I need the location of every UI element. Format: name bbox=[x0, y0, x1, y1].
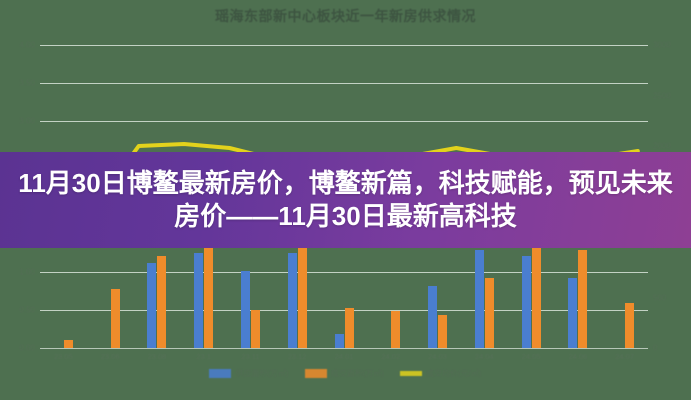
y-axis-right-tick-label: 0 bbox=[653, 344, 657, 353]
x-axis-tick-label: 23.1 bbox=[196, 352, 211, 361]
x-axis-tick-label: 24.07 bbox=[615, 352, 634, 361]
y-axis-left-tick-label: 4.00 bbox=[19, 41, 35, 50]
x-axis-tick-label: 23.05 bbox=[54, 352, 73, 361]
x-axis-tick-label: 24.05 bbox=[522, 352, 541, 361]
legend-item-price: 成交均价(元/㎡) bbox=[400, 368, 482, 379]
chart-legend: 供应面积(万㎡) 成交面积(万㎡) 成交均价(元/㎡) bbox=[0, 368, 691, 379]
x-axis-tick-label: 23.08 bbox=[148, 352, 167, 361]
x-axis-tick-label: 24.03 bbox=[428, 352, 447, 361]
y-axis-left-tick-label: 3.50 bbox=[19, 78, 35, 87]
y-axis-left-tick-label: 1.00 bbox=[19, 268, 35, 277]
legend-label-deal: 成交面积(万㎡) bbox=[331, 368, 384, 379]
x-axis-tick-label: 23.12 bbox=[288, 352, 307, 361]
x-axis-tick-label: 24.01 bbox=[335, 352, 354, 361]
gridline bbox=[40, 348, 648, 349]
y-axis-left-tick-label: 0.00 bbox=[19, 344, 35, 353]
legend-swatch-supply-icon bbox=[209, 369, 231, 378]
y-axis-right-tick-label: 2000 bbox=[653, 142, 671, 151]
legend-swatch-deal-icon bbox=[305, 369, 327, 378]
y-axis-right-tick-label: 3000 bbox=[653, 41, 671, 50]
article-headline-text: 11月30日博鳌最新房价，博鳌新篇，科技赋能，预见未来房价——11月30日最新高… bbox=[6, 167, 685, 234]
x-axis-tick-label: 24.02 bbox=[381, 352, 400, 361]
legend-label-supply: 供应面积(万㎡) bbox=[235, 368, 288, 379]
y-axis-right-tick-label: 2500 bbox=[653, 91, 671, 100]
chart-title: 瑶海东部新中心板块近一年新房供求情况 bbox=[0, 6, 691, 26]
legend-swatch-price-icon bbox=[400, 371, 422, 376]
x-axis-tick-label: 23.06 bbox=[101, 352, 120, 361]
x-axis-tick-label: 24.04 bbox=[475, 352, 494, 361]
legend-label-price: 成交均价(元/㎡) bbox=[426, 368, 482, 379]
article-headline-banner: 11月30日博鳌最新房价，博鳌新篇，科技赋能，预见未来房价——11月30日最新高… bbox=[0, 152, 691, 248]
x-axis-tick-label: 24.06 bbox=[568, 352, 587, 361]
x-axis-tick-label: 23.11 bbox=[241, 352, 259, 361]
y-axis-left-tick-label: 0.50 bbox=[19, 306, 35, 315]
y-axis-right-tick-label: 500 bbox=[653, 293, 666, 302]
legend-item-deal: 成交面积(万㎡) bbox=[305, 368, 384, 379]
y-axis-left-tick-label: 3.00 bbox=[19, 116, 35, 125]
screenshot-root: 瑶海东部新中心板块近一年新房供求情况 4.003.503.002.502.001… bbox=[0, 0, 691, 400]
legend-item-supply: 供应面积(万㎡) bbox=[209, 368, 288, 379]
